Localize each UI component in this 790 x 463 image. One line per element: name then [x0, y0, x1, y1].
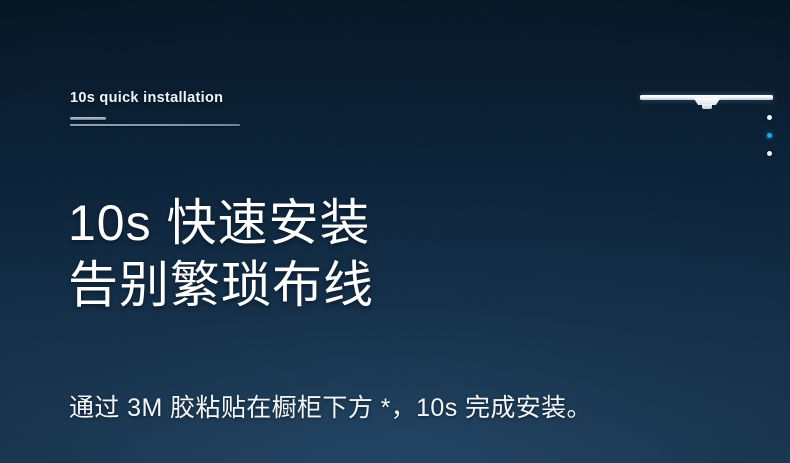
subtitle-text: 通过 3M 胶粘贴在橱柜下方 *，10s 完成安装。 [69, 388, 592, 424]
accent-rule-short [70, 117, 106, 120]
carousel-dot-1[interactable] [767, 115, 772, 120]
led-light-bar-graphic [640, 88, 773, 112]
headline-line-1: 10s 快速安装 [68, 192, 374, 254]
headline-line-2: 告别繁琐布线 [68, 254, 374, 316]
page-title: 10s 快速安装 告别繁琐布线 [68, 192, 374, 316]
carousel-dot-3[interactable] [767, 151, 772, 156]
accent-rule-long [70, 124, 240, 126]
promo-banner: 10s quick installation 10s 快速安装 告别繁琐布线 通… [0, 0, 790, 463]
eyebrow-label: 10s quick installation [70, 90, 223, 106]
carousel-indicator[interactable] [767, 115, 775, 156]
carousel-dot-2[interactable] [767, 133, 772, 138]
mount-tab-icon [702, 104, 712, 109]
